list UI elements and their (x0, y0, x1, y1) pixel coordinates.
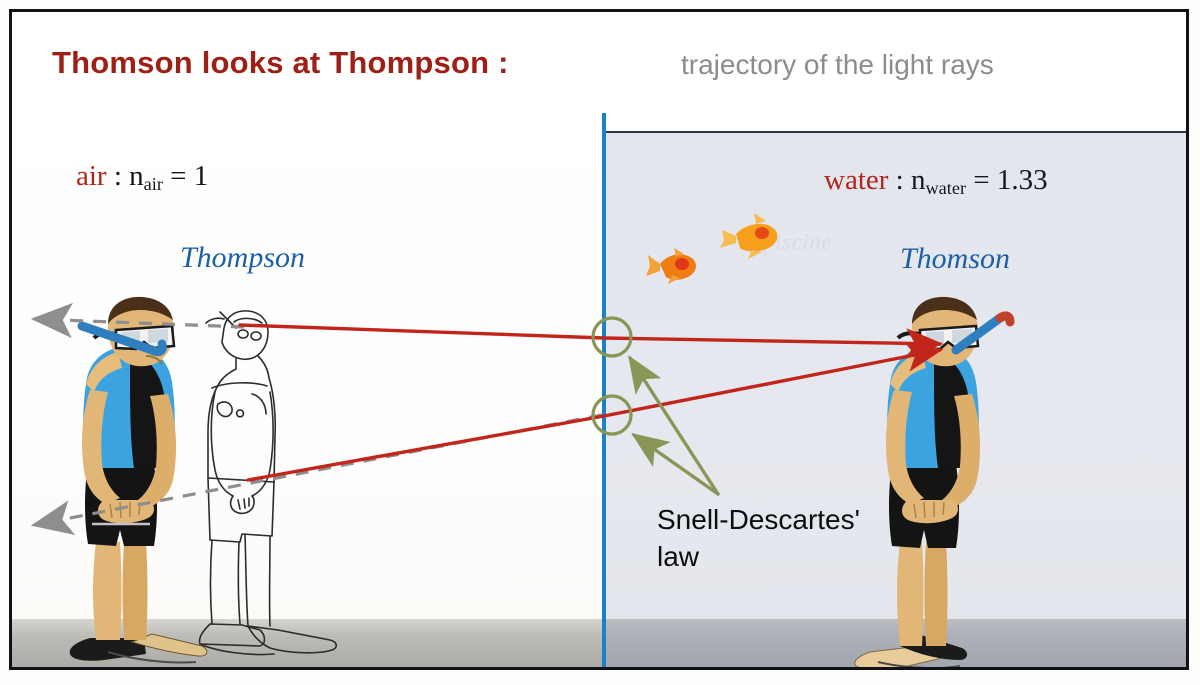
air-symbol: n (129, 160, 144, 192)
page-title: Thomson looks at Thompson : (52, 45, 509, 81)
snell-law-line-1: Snell-Descartes' (657, 502, 860, 539)
water-symbol: n (911, 164, 926, 196)
snell-law-line-2: law (657, 539, 860, 576)
water-index-label: water : nwater = 1.33 (824, 164, 1048, 197)
page-subtitle: trajectory of the light rays (681, 49, 994, 81)
air-index-value: 1 (194, 160, 209, 192)
diagram-canvas: piscine (0, 0, 1200, 685)
person-label-thomson: Thomson (900, 242, 1010, 276)
air-equals: = (163, 160, 194, 192)
air-separator: : (107, 160, 130, 192)
person-label-thompson: Thompson (180, 241, 305, 275)
water-region: piscine (603, 131, 1186, 669)
water-medium-name: water (824, 164, 888, 196)
air-water-interface-line (602, 113, 606, 667)
diagram-frame: piscine (9, 9, 1189, 670)
air-medium-name: air (76, 160, 107, 192)
air-subscript: air (144, 174, 163, 194)
ground-strip-water (603, 619, 1186, 667)
water-equals: = (966, 164, 997, 196)
air-index-label: air : nair = 1 (76, 160, 208, 193)
snell-descartes-law-label: Snell-Descartes' law (657, 502, 860, 576)
water-index-value: 1.33 (997, 164, 1048, 196)
water-separator: : (888, 164, 911, 196)
water-watermark: piscine (763, 229, 832, 255)
water-subscript: water (925, 178, 966, 198)
